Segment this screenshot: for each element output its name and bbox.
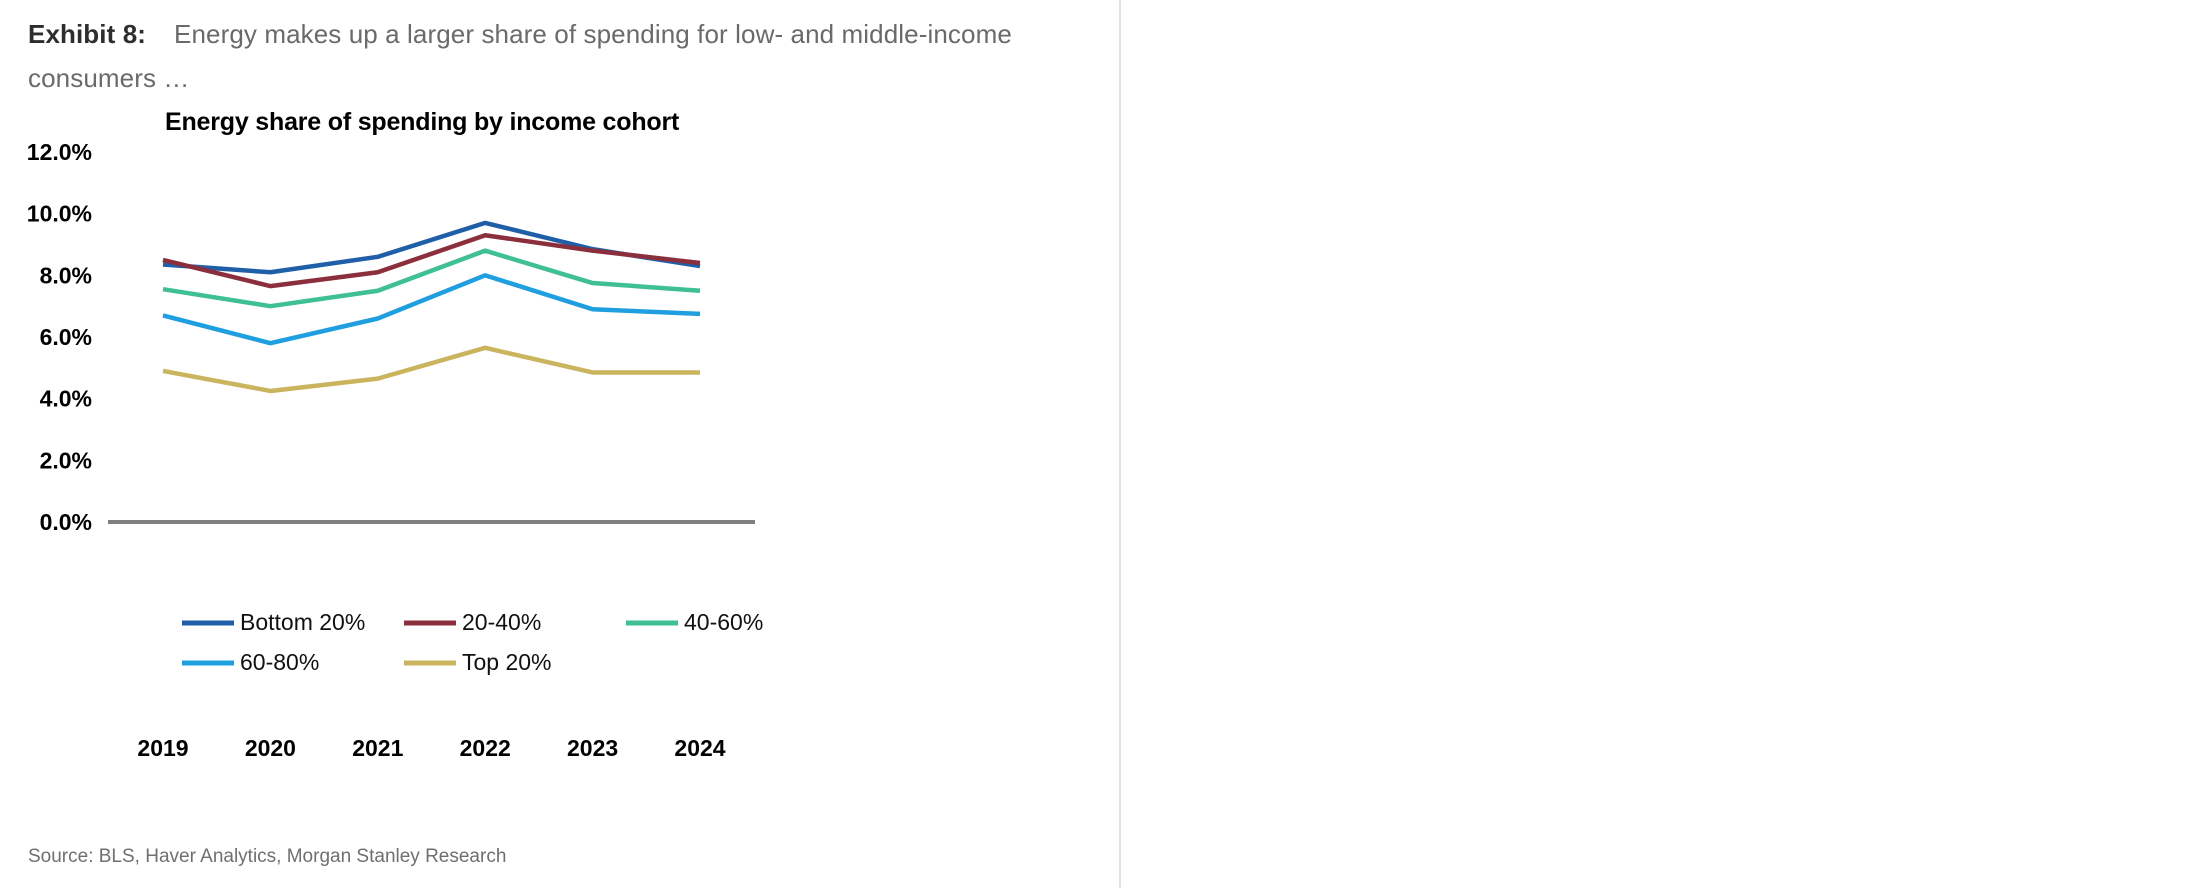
exhibit-8-heading: Exhibit 8:Energy makes up a larger share… (28, 12, 1048, 100)
x-axis-tick-label: 2019 (137, 735, 188, 761)
exhibit-9-panel: Exhibit 9:… as do groceries Groceries sh… (1120, 0, 2202, 888)
exhibit-8-source: Source: BLS, Haver Analytics, Morgan Sta… (28, 846, 506, 868)
exhibit-8-description: Energy makes up a larger share of spendi… (28, 19, 1012, 93)
x-axis-tick-label: 2024 (674, 735, 725, 761)
legend-label: 40-60% (684, 609, 763, 635)
series-line-bottom-20 (163, 223, 700, 272)
legend-item-60-80[interactable]: 60-80% (182, 649, 319, 675)
y-axis-tick-label: 4.0% (40, 386, 92, 412)
legend-label: Top 20% (462, 649, 552, 675)
legend-label: Bottom 20% (240, 609, 365, 635)
x-axis-tick-label: 2023 (567, 735, 618, 761)
legend-item-top-20[interactable]: Top 20% (404, 649, 552, 675)
legend-label: 20-40% (462, 609, 541, 635)
y-axis-tick-label: 12.0% (27, 139, 92, 165)
legend-item-20-40[interactable]: 20-40% (404, 609, 541, 635)
y-axis-tick-label: 8.0% (40, 262, 92, 288)
x-axis-tick-label: 2021 (352, 735, 403, 761)
exhibit-8-panel: Exhibit 8:Energy makes up a larger share… (0, 0, 1120, 888)
y-axis-tick-label: 2.0% (40, 447, 92, 473)
legend-item-bottom-20[interactable]: Bottom 20% (182, 609, 365, 635)
y-axis-tick-label: 6.0% (40, 324, 92, 350)
y-axis-tick-label: 10.0% (27, 201, 92, 227)
exhibits-page: Exhibit 8:Energy makes up a larger share… (0, 0, 2202, 888)
energy-line-chart: 0.0%2.0%4.0%6.0%8.0%10.0%12.0%2019202020… (0, 120, 800, 780)
y-axis-tick-label: 0.0% (40, 509, 92, 535)
x-axis-tick-label: 2022 (460, 735, 511, 761)
legend-label: 60-80% (240, 649, 319, 675)
exhibit-8-label: Exhibit 8: (28, 19, 146, 49)
legend-item-40-60[interactable]: 40-60% (626, 609, 763, 635)
series-line-top-20 (163, 348, 700, 391)
series-line-20-40 (163, 235, 700, 286)
x-axis-tick-label: 2020 (245, 735, 296, 761)
